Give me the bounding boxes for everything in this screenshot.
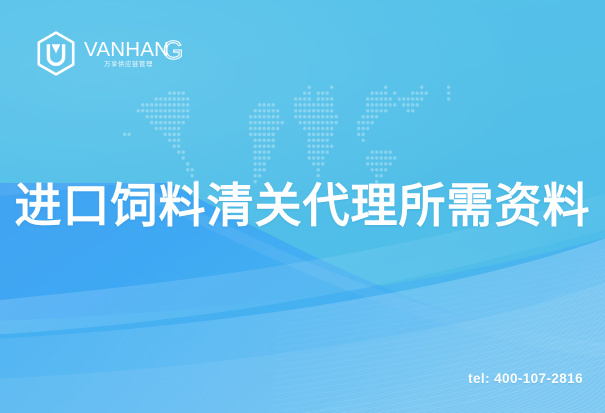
brand-logo[interactable]: VANHAN G 万享供应链管理 — [36, 31, 190, 76]
promo-banner: VANHAN G 万享供应链管理 进口饲料清关代理所需资料 tel: 400-1… — [0, 0, 605, 413]
hexagon-u-mark — [36, 31, 76, 76]
svg-text:万享供应链管理: 万享供应链管理 — [104, 59, 153, 68]
page-title: 进口饲料清关代理所需资料 — [0, 178, 605, 234]
contact-phone: tel: 400-107-2816 — [468, 371, 583, 386]
svg-text:G: G — [163, 37, 183, 65]
svg-text:VANHAN: VANHAN — [84, 38, 169, 61]
dotted-world-map — [118, 84, 490, 186]
logo-wordmark: VANHAN G 万享供应链管理 — [84, 37, 190, 71]
logo-wordmark-graphic: VANHAN G 万享供应链管理 — [84, 37, 190, 71]
